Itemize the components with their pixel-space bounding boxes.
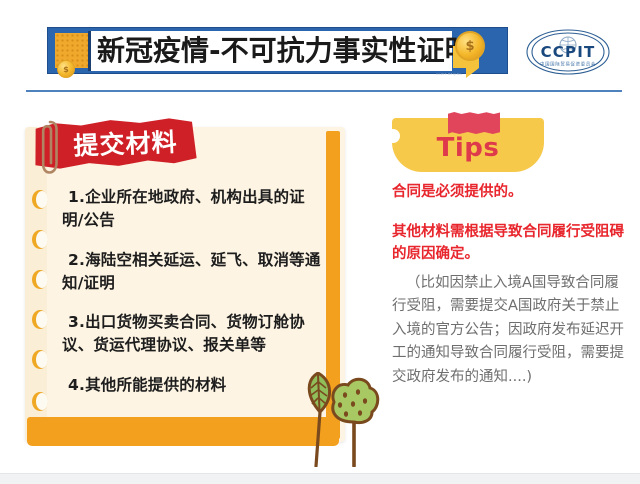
binding-hole (32, 310, 48, 329)
leaf-icon (309, 373, 329, 466)
header-microtext: CCPIT BEIJING (436, 72, 462, 76)
ccpit-logo-text: CCPIT (541, 43, 596, 61)
binding-hole (32, 270, 48, 289)
binding-hole (32, 230, 48, 249)
tips-line-1: 合同是必须提供的。 (392, 182, 632, 203)
binding-hole (32, 190, 48, 209)
coin-small-symbol: $ (63, 65, 69, 74)
ccpit-logo: CCPIT 中国国际贸易促进委员会 (516, 26, 620, 78)
gold-coin-small-icon: $ (57, 60, 75, 78)
tips-label: Tips (392, 133, 544, 163)
bush-icon (333, 379, 378, 466)
gold-coin-icon: $ (455, 31, 485, 61)
ccpit-logo-subtext: 中国国际贸易促进委员会 (540, 61, 596, 68)
plant-illustration (296, 372, 388, 467)
list-item: 1.企业所在地政府、机构出具的证明/公告 (62, 186, 324, 233)
binding-hole (32, 350, 48, 369)
bottom-strip (0, 473, 640, 484)
list-item: 2.海陆空相关延运、延飞、取消等通知/证明 (62, 249, 324, 296)
tips-line-3: （比如因禁止入境A国导致合同履行受阻，需要提交A国政府关于禁止入境的官方公告；因… (392, 272, 632, 389)
coin-symbol: $ (465, 39, 474, 54)
slide-canvas: 新冠疫情-不可抗力事实性证明 $ $ CCPIT BEIJING CCPIT 中… (0, 0, 640, 483)
header-divider-rule (26, 90, 622, 92)
header-title-box: 新冠疫情-不可抗力事实性证明 (88, 31, 452, 71)
binding-hole (32, 392, 48, 411)
card-bottom-orange-band (27, 420, 339, 446)
tips-line-2: 其他材料需根据导致合同履行受阻碍的原因确定。 (392, 222, 630, 266)
tips-tape-icon (448, 112, 500, 134)
list-item: 4.其他所能提供的材料 (62, 374, 324, 397)
page-title: 新冠疫情-不可抗力事实性证明 (91, 37, 473, 65)
list-item: 3.出口货物买卖合同、货物订舱协议、货运代理协议、报关单等 (62, 311, 324, 358)
paperclip-icon (41, 119, 59, 177)
materials-list: 1.企业所在地政府、机构出具的证明/公告 2.海陆空相关延运、延飞、取消等通知/… (62, 186, 324, 413)
